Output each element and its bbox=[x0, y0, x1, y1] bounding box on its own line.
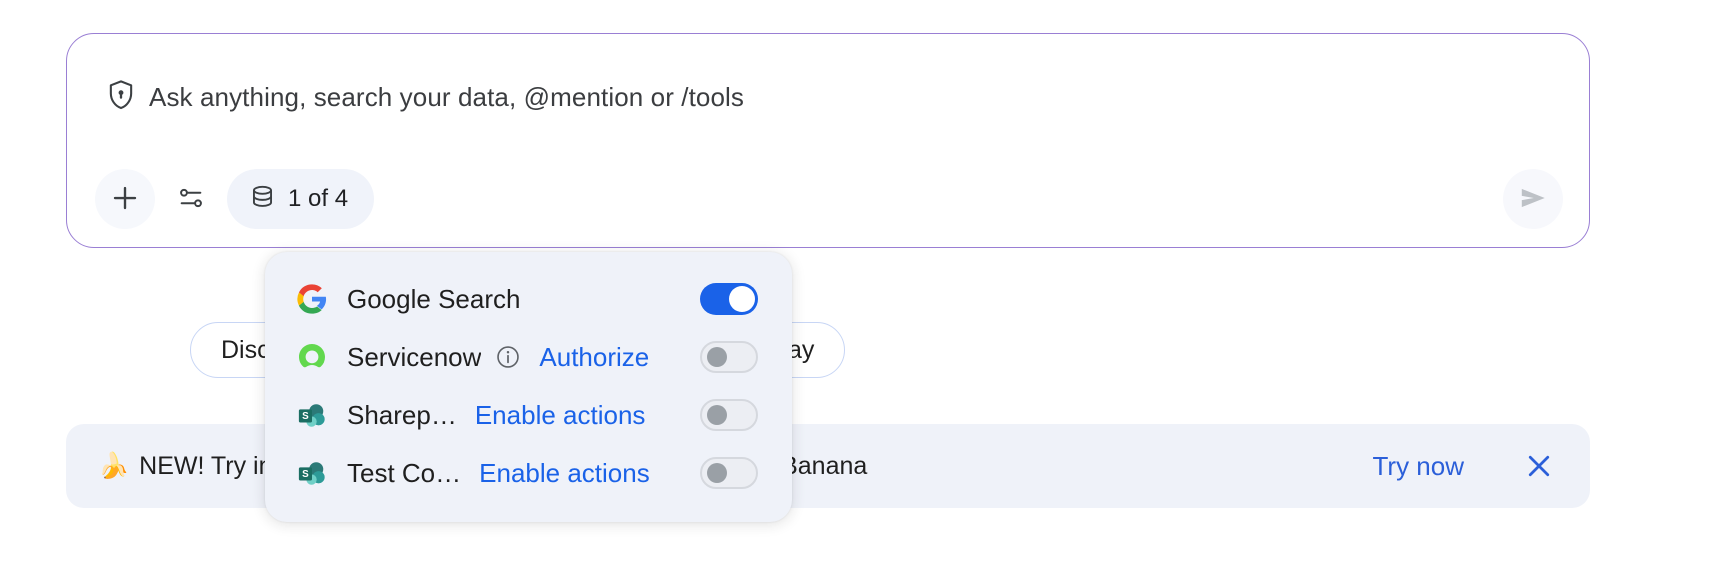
info-icon[interactable] bbox=[495, 344, 521, 370]
composer-toolbar: 1 of 4 bbox=[95, 169, 374, 229]
svg-text:S: S bbox=[302, 411, 309, 422]
datasource-row-google-search[interactable]: Google Search bbox=[265, 270, 792, 328]
tune-sliders-icon bbox=[177, 184, 205, 215]
datasource-action-enable-actions[interactable]: Enable actions bbox=[479, 458, 650, 489]
send-arrow-icon bbox=[1517, 182, 1549, 217]
prompt-composer[interactable]: Ask anything, search your data, @mention… bbox=[66, 33, 1590, 248]
add-attachment-button[interactable] bbox=[95, 169, 155, 229]
svg-text:S: S bbox=[302, 469, 309, 480]
datasource-action-authorize[interactable]: Authorize bbox=[539, 342, 649, 373]
google-logo-icon bbox=[295, 282, 329, 316]
toggle-knob bbox=[707, 463, 727, 483]
toggle-knob bbox=[707, 347, 727, 367]
banana-emoji-icon: 🍌 bbox=[98, 452, 129, 481]
datasource-name: Servicenow bbox=[347, 342, 481, 373]
tune-settings-button[interactable] bbox=[161, 169, 221, 229]
send-button[interactable] bbox=[1503, 169, 1563, 229]
datasource-toggle-sharepoint[interactable] bbox=[700, 399, 758, 431]
datasource-name: Test Co… bbox=[347, 458, 461, 489]
datasource-row-servicenow[interactable]: Servicenow Authorize bbox=[265, 328, 792, 386]
toggle-knob bbox=[729, 286, 755, 312]
plus-icon bbox=[110, 183, 140, 216]
sharepoint-logo-icon: S bbox=[295, 456, 329, 490]
toggle-knob bbox=[707, 405, 727, 425]
database-icon bbox=[249, 184, 276, 214]
datasource-row-test-co[interactable]: S Test Co… Enable actions bbox=[265, 444, 792, 502]
composer-placeholder-row[interactable]: Ask anything, search your data, @mention… bbox=[107, 80, 744, 115]
datasource-name: Google Search bbox=[347, 284, 520, 315]
datasource-count-label: 1 of 4 bbox=[288, 185, 348, 213]
datasource-name: Sharep… bbox=[347, 400, 457, 431]
datasource-row-sharepoint[interactable]: S Sharep… Enable actions bbox=[265, 386, 792, 444]
try-now-link[interactable]: Try now bbox=[1373, 451, 1465, 482]
servicenow-logo-icon bbox=[295, 340, 329, 374]
composer-placeholder-text: Ask anything, search your data, @mention… bbox=[149, 82, 744, 113]
close-icon[interactable] bbox=[1522, 449, 1556, 483]
datasource-dropdown: Google Search Servicenow Authorize bbox=[265, 252, 792, 522]
sharepoint-logo-icon: S bbox=[295, 398, 329, 432]
datasource-toggle-google-search[interactable] bbox=[700, 283, 758, 315]
datasource-toggle-test-co[interactable] bbox=[700, 457, 758, 489]
shield-lock-icon bbox=[107, 80, 135, 115]
datasource-toggle-servicenow[interactable] bbox=[700, 341, 758, 373]
datasource-action-enable-actions[interactable]: Enable actions bbox=[475, 400, 646, 431]
datasource-selector-button[interactable]: 1 of 4 bbox=[227, 169, 374, 229]
